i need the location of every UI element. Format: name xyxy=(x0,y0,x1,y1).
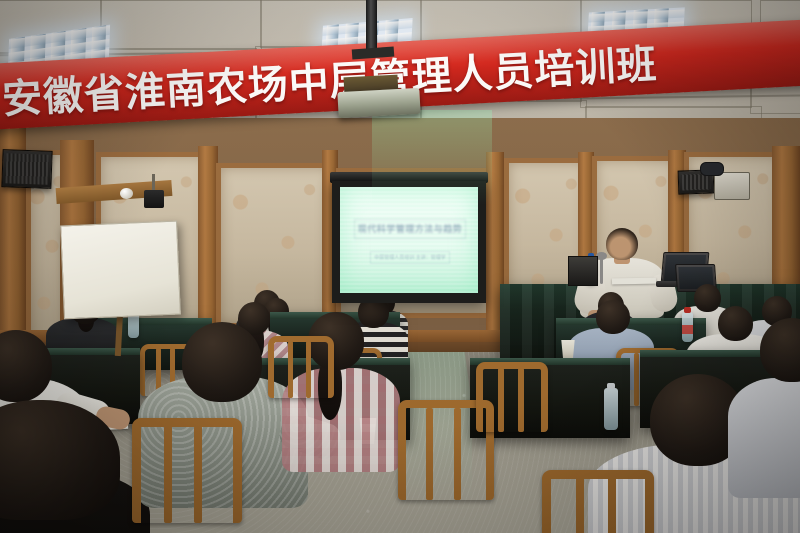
table-microphone-stand xyxy=(600,258,603,284)
projector-mount-pole xyxy=(366,0,377,52)
presenter-head xyxy=(606,228,638,260)
chair-mid-right xyxy=(476,362,548,432)
attendee-head xyxy=(182,322,262,402)
conference-room-photo: 现代科学管理方法与趋势 中层管理人员培训 主讲：管理学 安徽省淮南农场中层管理人… xyxy=(0,0,800,533)
wall-speaker-left xyxy=(1,149,52,189)
flipchart-whiteboard xyxy=(60,221,181,320)
wall-bracket-right xyxy=(700,162,724,176)
wall-lamp xyxy=(144,190,164,208)
side-monitor xyxy=(568,256,598,286)
wall-control-panel[interactable] xyxy=(714,172,750,200)
presenter-documents xyxy=(612,278,656,285)
attendee-torso xyxy=(728,378,800,498)
ceiling-projector xyxy=(337,88,420,118)
slide-title: 现代科学管理方法与趋势 xyxy=(354,219,466,239)
chair-front-left xyxy=(132,418,242,523)
wall-lamp-shade xyxy=(120,188,133,199)
attendee-head xyxy=(718,306,753,341)
attendee-head xyxy=(694,284,721,312)
chair-mid-left xyxy=(268,336,334,398)
attendee-head xyxy=(596,300,630,334)
slide-subtitle: 中层管理人员培训 主讲：管理学 xyxy=(370,251,449,265)
water-bottle-row3 xyxy=(604,388,618,430)
projection-screen: 现代科学管理方法与趋势 中层管理人员培训 主讲：管理学 xyxy=(332,181,486,303)
chair-front-right xyxy=(542,470,654,533)
water-bottle-row2-right xyxy=(682,312,693,342)
